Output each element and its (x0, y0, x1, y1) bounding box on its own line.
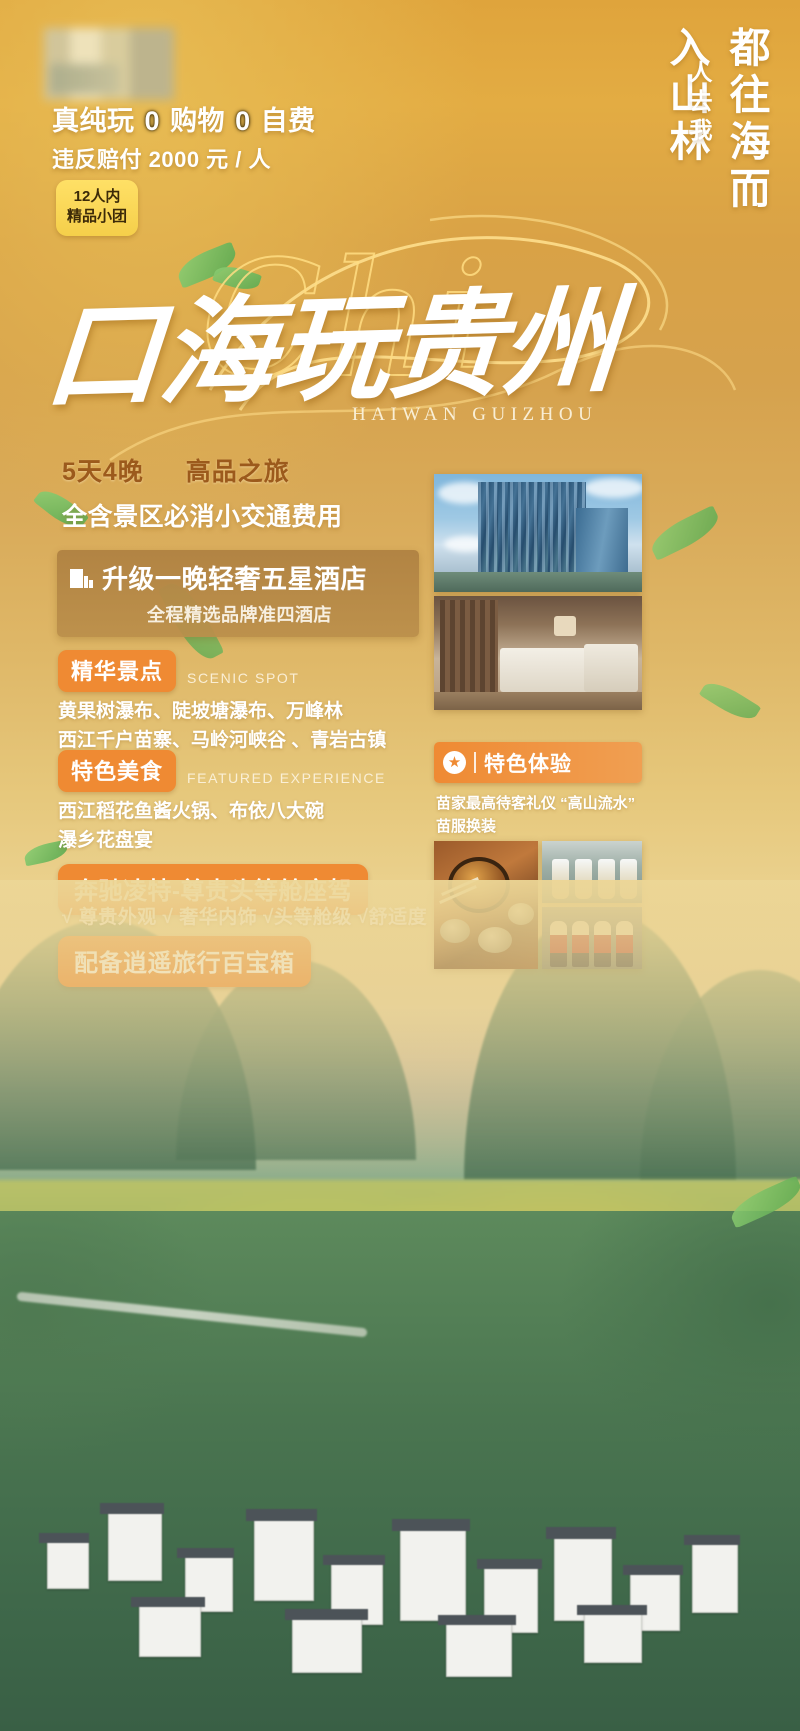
trip-days: 5天4晚 (62, 458, 144, 486)
promo-line2: 违反赔付 2000 元 / 人 (52, 146, 472, 174)
promo-line1-a: 真纯玩 (52, 106, 135, 136)
food-line-1: 西江稻花鱼酱火锅、布依八大碗 (58, 798, 458, 827)
scenic-pill-label-en: SCENIC SPOT (187, 670, 300, 692)
experience-line-2: 苗服换装 (436, 815, 666, 838)
vertical-calligraphy: 都往海而入山林 人去我 (632, 22, 782, 252)
leaf-decoration (699, 676, 762, 726)
trip-summary: 5天4晚 高品之旅 全含景区必消小交通费用 (62, 452, 442, 533)
travel-poster: 真纯玩 0 购物 0 自费 违反赔付 2000 元 / 人 12人内 精品小团 … (0, 0, 800, 1731)
food-line-2: 瀑乡花盘宴 (58, 827, 458, 856)
hotel-exterior-photo (434, 474, 642, 592)
hotel-icon (70, 567, 93, 589)
section-featured-food: 特色美食 FEATURED EXPERIENCE 西江稻花鱼酱火锅、布依八大碗 … (58, 750, 458, 856)
leaf-decoration (646, 505, 724, 561)
experience-bar: ★ 特色体验 (434, 742, 642, 783)
badge-line2: 精品小团 (62, 207, 132, 227)
hotel-room-photo (434, 596, 642, 710)
hotel-subtitle: 全程精选品牌准四酒店 (70, 601, 409, 627)
calligraphy-column-left: 人去我 (682, 60, 716, 147)
badge-line1: 12人内 (62, 187, 132, 207)
page-title: 口海玩贵州 (42, 245, 694, 403)
calligraphy-column-right: 都往海而入山林 (656, 26, 776, 252)
scenic-line-1: 黄果树瀑布、陡坡塘瀑布、万峰林 (58, 698, 458, 727)
title-pinyin: HAIWAN GUIZHOU (352, 404, 597, 426)
scenic-pill-label: 精华景点 (58, 650, 176, 692)
promo-line1-b: 购物 (170, 106, 225, 136)
promo-text: 真纯玩 0 购物 0 自费 违反赔付 2000 元 / 人 (52, 104, 472, 174)
village-photo (16, 1391, 784, 1721)
section-scenic-spot: 精华景点 SCENIC SPOT 黄果树瀑布、陡坡塘瀑布、万峰林 西江千户苗寨、… (58, 650, 458, 756)
brand-logo (44, 28, 174, 100)
promo-zero-2: 0 (233, 104, 253, 139)
food-pill-label-en: FEATURED EXPERIENCE (187, 770, 386, 792)
experience-text: 苗家最高待客礼仪 “高山流水” 苗服换装 (436, 792, 666, 839)
landscape-background (0, 880, 800, 1731)
promo-zero-1: 0 (143, 104, 163, 139)
divider (474, 752, 476, 773)
hotel-upgrade-bar: 升级一晚轻奢五星酒店 全程精选品牌准四酒店 (57, 550, 419, 637)
food-pill-label: 特色美食 (58, 750, 176, 792)
experience-label: 特色体验 (484, 748, 572, 778)
experience-line-1: 苗家最高待客礼仪 “高山流水” (436, 792, 666, 815)
trip-quality: 高品之旅 (186, 458, 290, 486)
promo-line1-c: 自费 (261, 106, 316, 136)
hotel-title: 升级一晚轻奢五星酒店 (102, 559, 367, 596)
star-icon: ★ (443, 751, 466, 774)
title-block: Chi 口海玩贵州 HAIWAN GUIZHOU (0, 226, 800, 426)
trip-included: 全含景区必消小交通费用 (62, 497, 442, 533)
